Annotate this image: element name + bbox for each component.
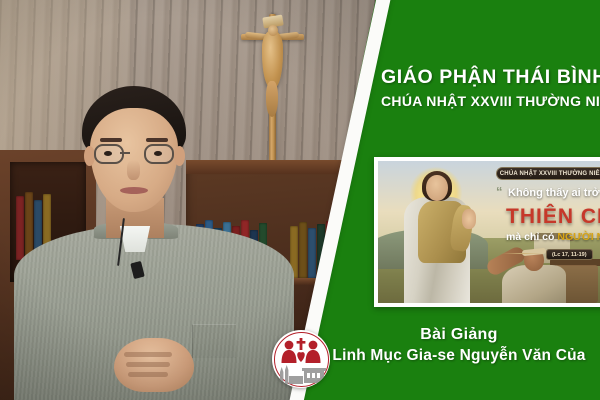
scripture-citation: (Lc 17, 11-19) [546, 249, 593, 260]
sunday-badge: CHÚA NHẬT XXVIII THƯỜNG NIÊN [496, 167, 600, 180]
gospel-illustration-card[interactable]: CHÚA NHẬT XXVIII THƯỜNG NIÊN “ Không thấ… [374, 157, 600, 307]
sermon-label: Bài Giảng [318, 326, 600, 344]
header-block: GIÁO PHẬN THÁI BÌNH CHÚA NHẬT XXVIII THƯ… [381, 66, 600, 109]
quote-line-3: mà chỉ có NGƯỜI NGOẠI BANG [506, 231, 600, 243]
broadcast-frame: GIÁO PHẬN THÁI BÌNH CHÚA NHẬT XXVIII THƯ… [0, 0, 600, 400]
quote-line-1: Không thấy ai trở lại tôn vinh [508, 187, 600, 199]
liturgical-subtitle: CHÚA NHẬT XXVIII THƯỜNG NIÊN [381, 93, 600, 109]
diocese-title: GIÁO PHẬN THÁI BÌNH [381, 66, 600, 89]
quote-line-3-accent: NGƯỜI NGOẠI BANG [557, 231, 600, 243]
priest-speaker [24, 86, 284, 400]
diocese-logo [272, 330, 330, 388]
preacher-name: Linh Mục Gia-se Nguyễn Văn Của [318, 347, 600, 365]
bottom-title-block: Bài Giảng Linh Mục Gia-se Nguyễn Văn Của [318, 326, 600, 365]
quote-line-2: THIÊN CHÚA [506, 205, 600, 229]
quote-mark-icon: “ [496, 185, 503, 198]
quote-line-3-prefix: mà chỉ có [506, 231, 557, 243]
jesus-figure [426, 175, 448, 201]
